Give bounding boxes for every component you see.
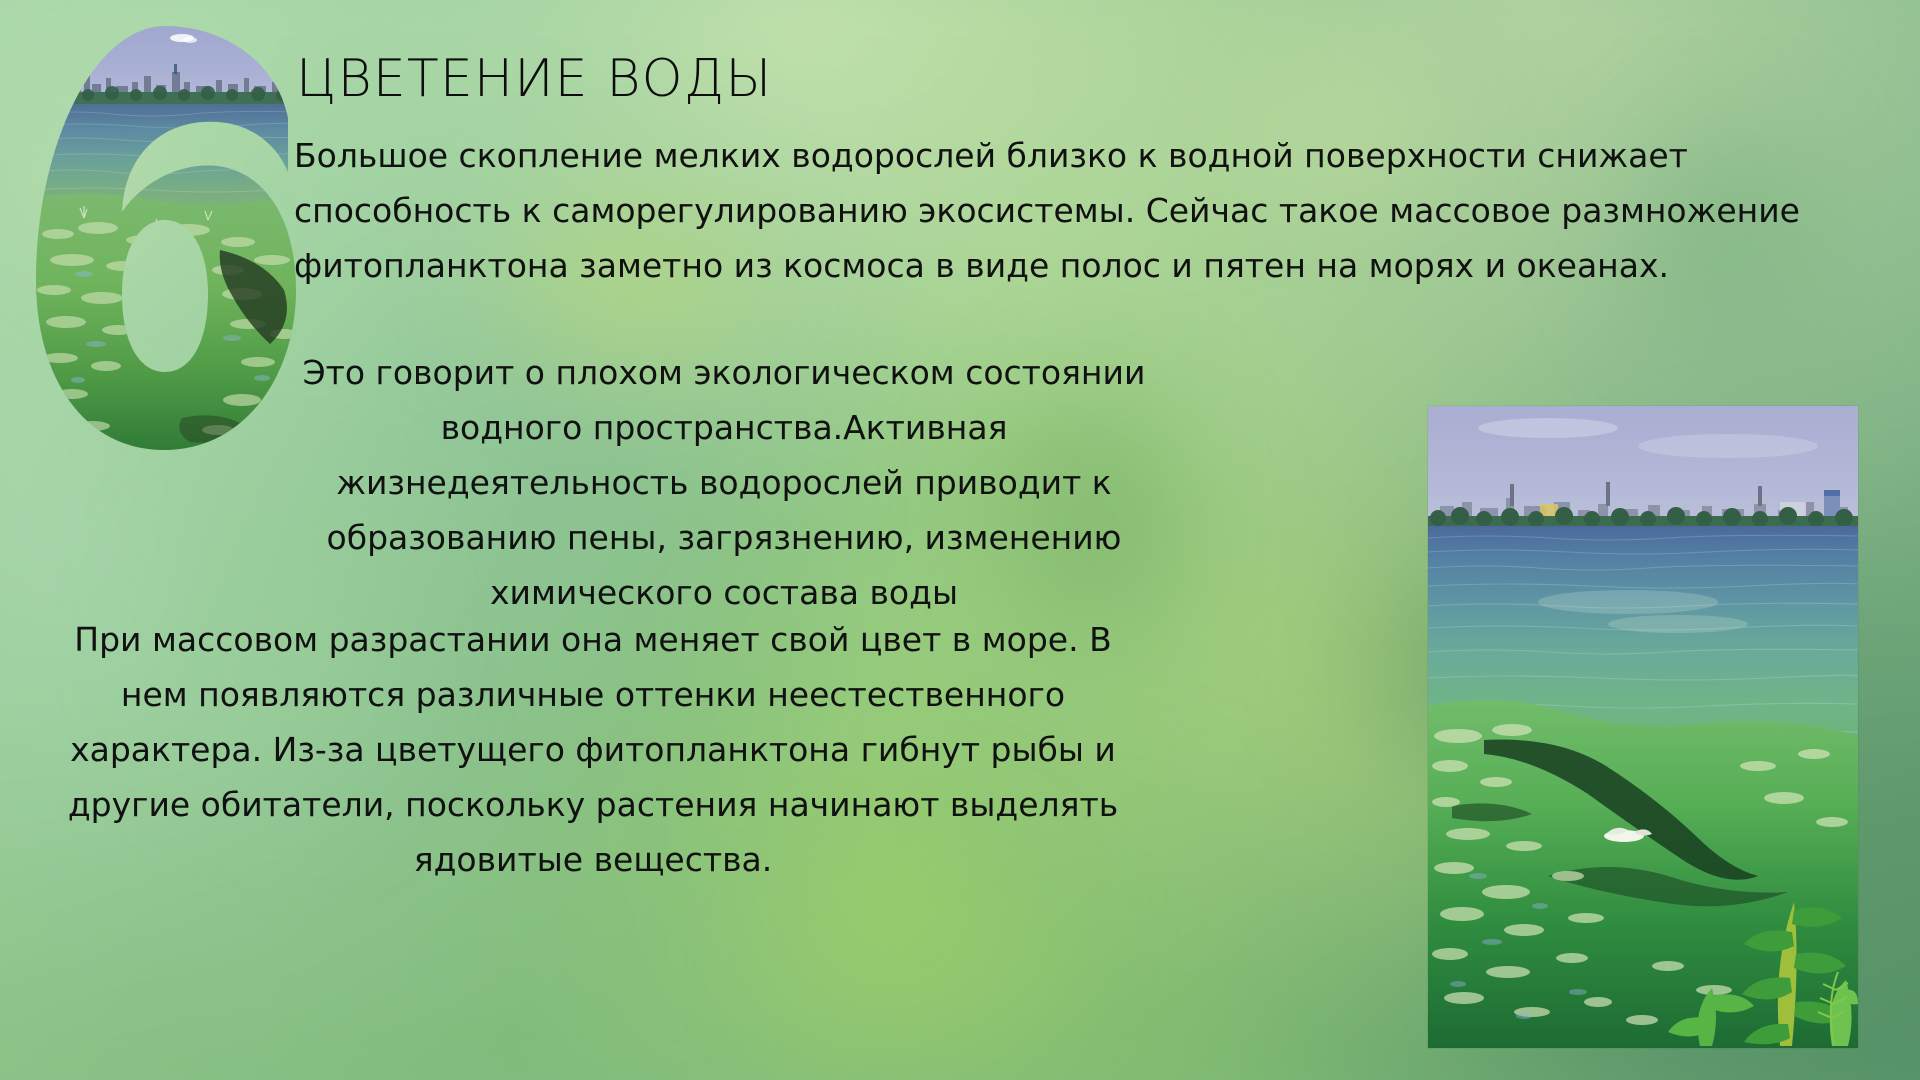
page-title: ЦВЕТЕНИЕ ВОДЫ: [296, 50, 772, 110]
algae-bloom-photo: [1428, 406, 1858, 1048]
paragraph-consequences: При массовом разрастании она меняет свой…: [58, 612, 1128, 887]
paragraph-intro: Большое скопление мелких водорослей близ…: [294, 128, 1904, 293]
presentation-slide: ЦВЕТЕНИЕ ВОДЫ Большое скопление мелких в…: [0, 0, 1920, 1080]
paragraph-ecological-state: Это говорит о плохом экологическом состо…: [294, 345, 1154, 620]
slide-number-six-image: [32, 22, 298, 454]
